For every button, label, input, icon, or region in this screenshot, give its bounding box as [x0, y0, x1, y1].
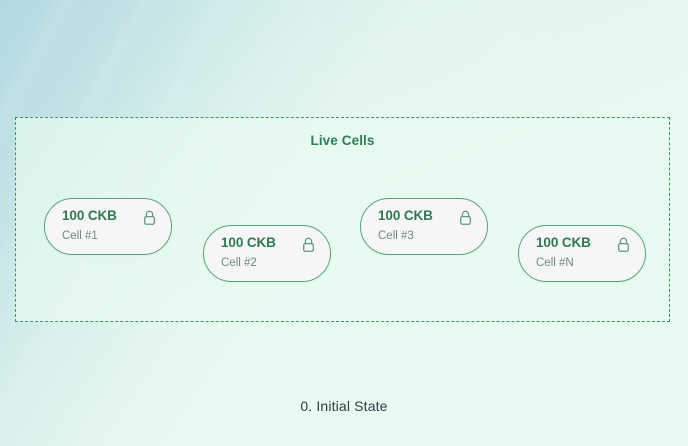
lock-icon: [301, 237, 316, 253]
cell-label: Cell #N: [536, 257, 574, 269]
lock-icon: [616, 237, 631, 253]
cell-node-1[interactable]: 100 CKB Cell #1: [44, 198, 172, 255]
lock-icon: [142, 210, 157, 226]
cell-label: Cell #2: [221, 257, 257, 269]
cell-node-3[interactable]: 100 CKB Cell #3: [360, 198, 488, 255]
cell-amount: 100 CKB: [62, 208, 117, 223]
diagram-caption: 0. Initial State: [0, 398, 688, 414]
diagram-canvas: Live Cells 100 CKB Cell #1 100 CKB Cell …: [0, 0, 688, 446]
lock-icon: [458, 210, 473, 226]
cell-node-2[interactable]: 100 CKB Cell #2: [203, 225, 331, 282]
cell-amount: 100 CKB: [378, 208, 433, 223]
cell-label: Cell #3: [378, 230, 414, 242]
cell-label: Cell #1: [62, 230, 98, 242]
cell-node-n[interactable]: 100 CKB Cell #N: [518, 225, 646, 282]
cell-amount: 100 CKB: [536, 235, 591, 250]
live-cells-title: Live Cells: [16, 133, 669, 148]
cell-amount: 100 CKB: [221, 235, 276, 250]
